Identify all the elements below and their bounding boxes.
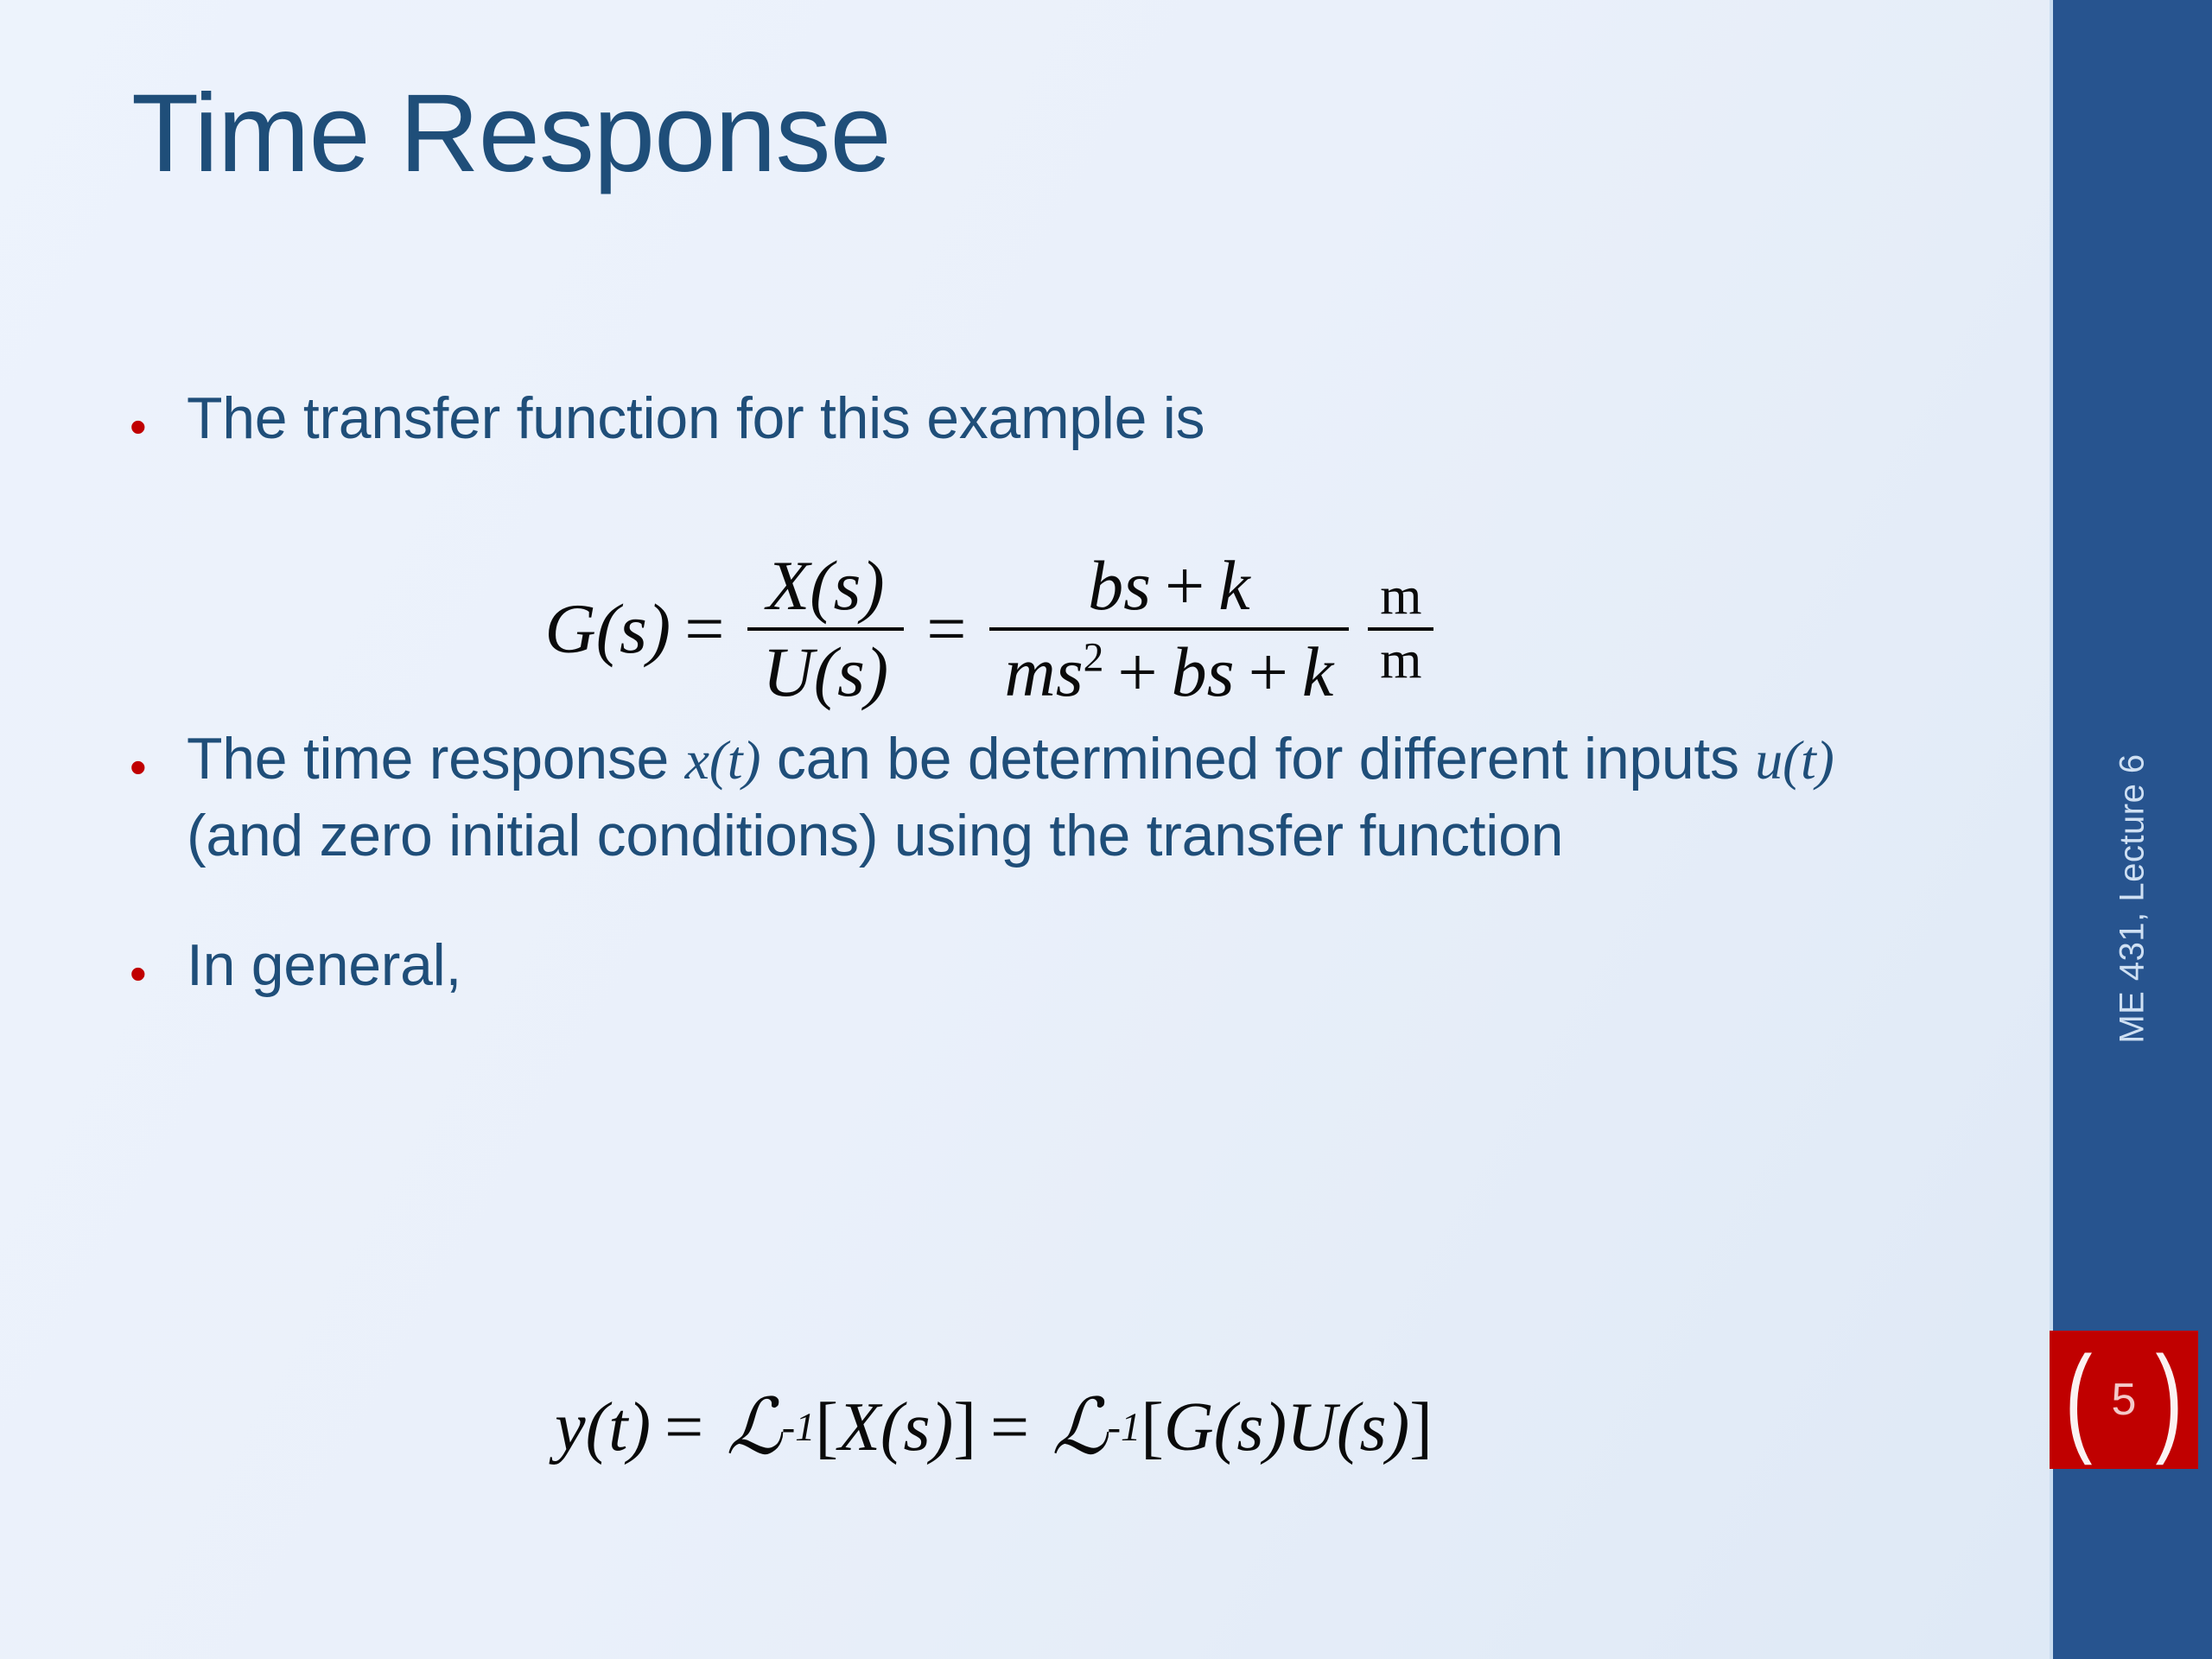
eq1-den-plus-2: + — [1249, 632, 1288, 711]
eq2-lhs: y(t) — [555, 1389, 651, 1467]
eq1-num-bs: bs — [1088, 546, 1151, 625]
eq1-num-plus: + — [1165, 546, 1205, 625]
page-title: Time Response — [131, 76, 891, 192]
eq1-fraction-xu: X(s) U(s) — [747, 544, 905, 714]
eq1-frac1-numerator: X(s) — [751, 544, 900, 627]
eq2-arg-gs: G(s) — [1164, 1389, 1287, 1467]
eq1-fraction-polynomial: bs+k ms2+bs+k — [989, 544, 1350, 714]
eq1-den-bs: bs — [1172, 632, 1235, 711]
bullet-2-seg-2: can be determined for different inputs — [760, 726, 1755, 791]
sidebar-course-label: ME 431, Lecture 6 — [2113, 753, 2152, 1043]
eq2-bracket-close-2: ] — [1409, 1389, 1433, 1467]
eq2-bracket-open-1: [ — [815, 1389, 838, 1467]
bullet-item-1: • The transfer function for this example… — [130, 380, 1961, 456]
bullet-marker-icon: • — [130, 721, 187, 791]
eq2-laplace-symbol-1: ℒ — [726, 1382, 782, 1472]
bullet-2-seg-1: The time response — [187, 726, 685, 791]
eq2-laplace-exponent-1: -1 — [782, 1405, 816, 1451]
bullet-2-seg-3: (and zero initial conditions) using the … — [187, 803, 1563, 868]
bullet-marker-icon: • — [130, 380, 187, 451]
eq2-laplace-exponent-2: -1 — [1108, 1405, 1141, 1451]
bullet-text-3: In general, — [187, 927, 1961, 1003]
eq1-units-denominator: m — [1368, 631, 1433, 690]
bullet-marker-icon: • — [130, 927, 187, 998]
eq2-arg-us: U(s) — [1287, 1389, 1409, 1467]
eq1-frac2-numerator: bs+k — [1072, 544, 1266, 627]
eq2-equals-1: = — [664, 1389, 703, 1467]
slide-canvas: ME 431, Lecture 6 ( 5 ) Time Response • … — [0, 0, 2212, 1659]
eq1-den-plus-1: + — [1117, 632, 1157, 711]
eq1-den-k: k — [1302, 632, 1333, 711]
bullet-gap-spacer — [130, 879, 1961, 927]
page-number-badge: ( 5 ) — [2050, 1331, 2198, 1469]
page-number-text: 5 — [2112, 1377, 2137, 1422]
eq2-bracket-close-1: ] — [953, 1389, 976, 1467]
bullet-2-math-xt: x(t) — [685, 729, 761, 791]
eq1-equals-2: = — [926, 588, 966, 670]
eq1-lhs: G(s) — [545, 588, 671, 670]
badge-left-bracket: ( — [2065, 1339, 2093, 1459]
equation-time-response: y(t) = ℒ-1[X(s)] = ℒ-1[G(s)U(s)] — [0, 1382, 1987, 1472]
bullet-text-2: The time response x(t) can be determined… — [187, 721, 1961, 874]
bullet-item-2: • The time response x(t) can be determin… — [130, 721, 1961, 874]
eq2-laplace-symbol-2: ℒ — [1052, 1382, 1108, 1472]
eq1-units-numerator: m — [1368, 567, 1433, 626]
eq2-arg-xs: X(s) — [838, 1389, 953, 1467]
eq1-den-ms: ms — [1005, 632, 1084, 711]
equation-transfer-function: G(s) = X(s) U(s) = bs+k ms2+bs+k m m — [0, 544, 1987, 714]
eq1-units-fraction: m m — [1368, 567, 1433, 690]
eq1-frac2-denominator: ms2+bs+k — [989, 631, 1350, 714]
eq1-den-exponent: 2 — [1084, 636, 1104, 681]
eq1-frac1-denominator: U(s) — [747, 631, 905, 714]
bullet-text-1: The transfer function for this example i… — [187, 380, 1961, 456]
eq1-num-k: k — [1218, 546, 1249, 625]
eq2-bracket-open-2: [ — [1141, 1389, 1164, 1467]
eq1-equals-1: = — [684, 588, 724, 670]
bullet-item-3: • In general, — [130, 927, 1961, 1003]
bullet-2-math-ut: u(t) — [1755, 729, 1834, 791]
eq2-equals-2: = — [990, 1389, 1029, 1467]
badge-right-bracket: ) — [2155, 1339, 2183, 1459]
